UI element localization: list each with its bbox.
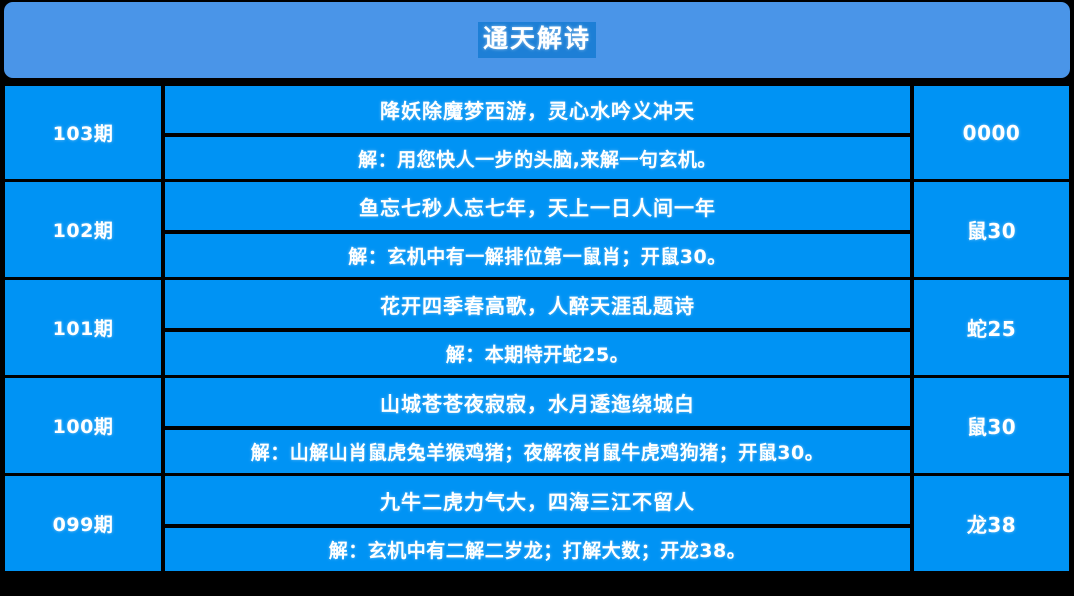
answer-text: 解：本期特开蛇25。 [165,328,910,375]
period-cell: 100期 [0,378,165,473]
result-cell: 龙38 [910,476,1074,571]
content-cell: 降妖除魔梦西游，灵心水吟义冲天 解：用您快人一步的头脑,来解一句玄机。 [165,86,910,179]
period-label: 100期 [53,412,114,439]
table-row[interactable]: 102期 鱼忘七秒人忘七年，天上一日人间一年 解：玄机中有一解排位第一鼠肖；开鼠… [0,179,1074,277]
content-cell: 花开四季春高歌，人醉天涯乱题诗 解：本期特开蛇25。 [165,280,910,375]
result-label: 0000 [963,121,1021,145]
result-cell: 0000 [910,86,1074,179]
result-cell: 鼠30 [910,378,1074,473]
content-cell: 山城苍苍夜寂寂，水月逶迤绕城白 解：山解山肖鼠虎兔羊猴鸡猪；夜解夜肖鼠牛虎鸡狗猪… [165,378,910,473]
table-row[interactable]: 103期 降妖除魔梦西游，灵心水吟义冲天 解：用您快人一步的头脑,来解一句玄机。… [0,86,1074,179]
result-cell: 鼠30 [910,182,1074,277]
table-row[interactable]: 099期 九牛二虎力气大，四海三江不留人 解：玄机中有二解二岁龙；打解大数；开龙… [0,473,1074,571]
page-root: 通天解诗 103期 降妖除魔梦西游，灵心水吟义冲天 解：用您快人一步的头脑,来解… [0,0,1074,596]
issue-table: 103期 降妖除魔梦西游，灵心水吟义冲天 解：用您快人一步的头脑,来解一句玄机。… [0,86,1074,596]
content-cell: 九牛二虎力气大，四海三江不留人 解：玄机中有二解二岁龙；打解大数；开龙38。 [165,476,910,571]
period-label: 103期 [53,119,114,146]
result-label: 鼠30 [967,411,1016,440]
answer-text: 解：山解山肖鼠虎兔羊猴鸡猪；夜解夜肖鼠牛虎鸡狗猪；开鼠30。 [165,426,910,473]
period-label: 099期 [53,510,114,537]
page-title: 通天解诗 [478,22,596,57]
answer-text: 解：用您快人一步的头脑,来解一句玄机。 [165,133,910,179]
poem-text: 九牛二虎力气大，四海三江不留人 [165,476,910,524]
answer-text: 解：玄机中有二解二岁龙；打解大数；开龙38。 [165,524,910,571]
answer-text: 解：玄机中有一解排位第一鼠肖；开鼠30。 [165,230,910,277]
period-label: 101期 [53,314,114,341]
poem-text: 山城苍苍夜寂寂，水月逶迤绕城白 [165,378,910,426]
poem-text: 鱼忘七秒人忘七年，天上一日人间一年 [165,182,910,230]
table-row[interactable]: 101期 花开四季春高歌，人醉天涯乱题诗 解：本期特开蛇25。 蛇25 [0,277,1074,375]
period-cell: 099期 [0,476,165,571]
table-row[interactable]: 100期 山城苍苍夜寂寂，水月逶迤绕城白 解：山解山肖鼠虎兔羊猴鸡猪；夜解夜肖鼠… [0,375,1074,473]
result-label: 鼠30 [967,215,1016,244]
period-cell: 103期 [0,86,165,179]
result-label: 龙38 [967,509,1016,538]
result-cell: 蛇25 [910,280,1074,375]
poem-text: 降妖除魔梦西游，灵心水吟义冲天 [165,86,910,133]
content-cell: 鱼忘七秒人忘七年，天上一日人间一年 解：玄机中有一解排位第一鼠肖；开鼠30。 [165,182,910,277]
poem-text: 花开四季春高歌，人醉天涯乱题诗 [165,280,910,328]
period-cell: 101期 [0,280,165,375]
header-banner: 通天解诗 [4,2,1070,78]
period-cell: 102期 [0,182,165,277]
period-label: 102期 [53,216,114,243]
result-label: 蛇25 [967,313,1016,342]
